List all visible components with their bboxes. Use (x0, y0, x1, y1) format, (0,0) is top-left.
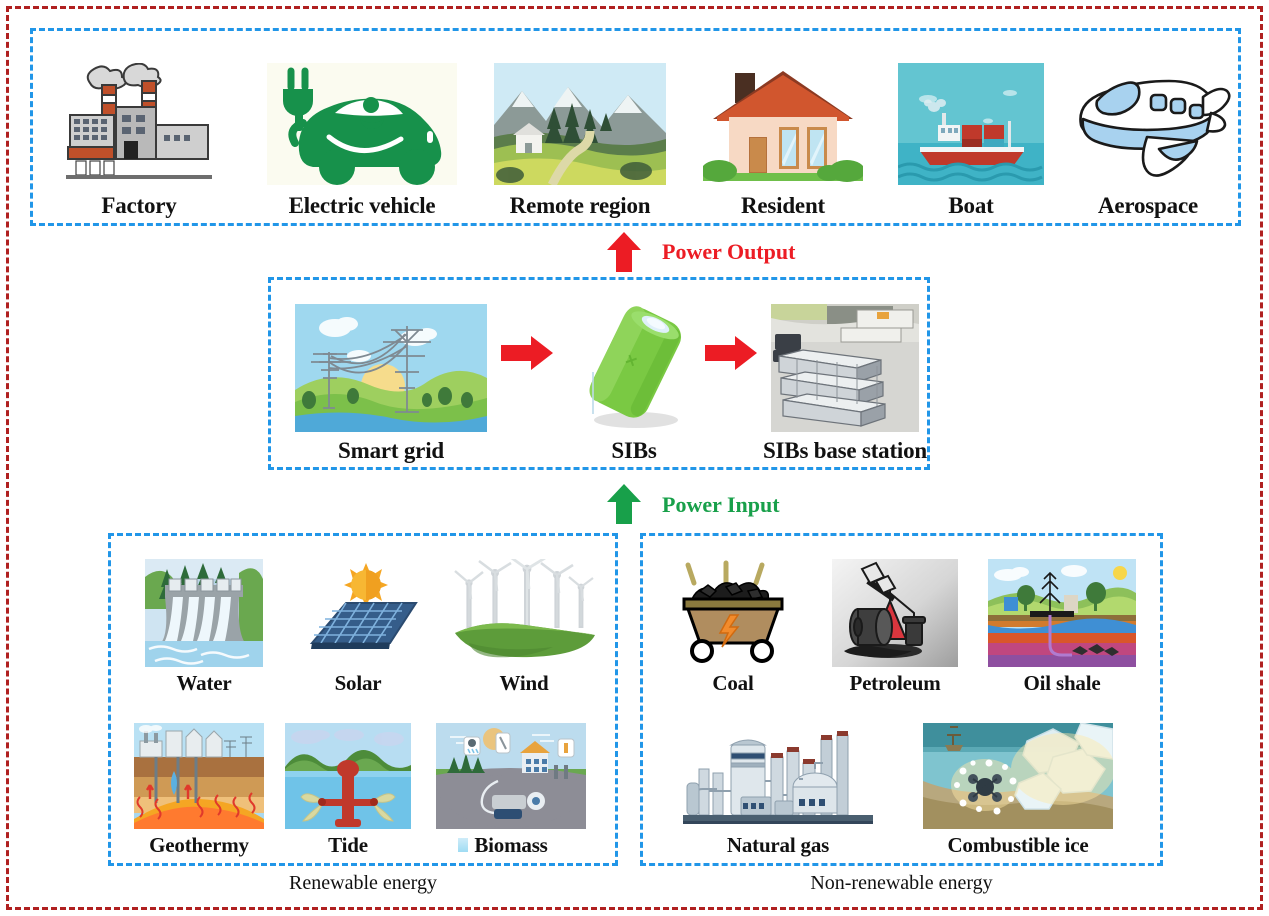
app-item-resident[interactable]: Resident (688, 37, 878, 219)
storage-panel: Smart grid (268, 277, 930, 470)
renewable-item-water[interactable]: Water (129, 546, 279, 696)
storage-arrow-2-icon (705, 336, 757, 370)
nonrenewable-label-petroleum: Petroleum (849, 671, 940, 696)
storage-item-base-station[interactable]: SIBs base station (757, 288, 933, 464)
app-label-electric-vehicle: Electric vehicle (289, 193, 436, 219)
renewable-panel: Water (108, 533, 618, 866)
biomass-artifact (458, 838, 468, 852)
power-input-label: Power Input (662, 492, 780, 518)
tidal-turbine-icon (285, 723, 411, 829)
nonrenewable-item-combustible-ice[interactable]: Combustible ice (893, 708, 1143, 858)
nonrenewable-label-oil-shale: Oil shale (1024, 671, 1101, 696)
oil-pumpjack-icon (832, 559, 958, 667)
methane-hydrate-icon (923, 723, 1113, 829)
app-label-remote-region: Remote region (510, 193, 651, 219)
airplane-icon (1063, 67, 1233, 185)
solar-panel-icon (294, 559, 422, 667)
nonrenewable-item-petroleum[interactable]: Petroleum (815, 546, 975, 696)
nonrenewable-item-oil-shale[interactable]: Oil shale (977, 546, 1147, 696)
power-input-arrow-icon (607, 484, 641, 524)
cargo-boat-icon (898, 63, 1044, 185)
power-output-label: Power Output (662, 239, 795, 265)
nonrenewable-item-coal[interactable]: Coal (657, 546, 809, 696)
nonrenewable-label-natural-gas: Natural gas (727, 833, 829, 858)
app-label-boat: Boat (948, 193, 993, 219)
renewable-label-geothermy: Geothermy (149, 833, 249, 858)
renewable-label-tide: Tide (328, 833, 368, 858)
factory-icon (64, 63, 214, 185)
base-station-icon (771, 304, 919, 432)
renewable-item-geothermy[interactable]: Geothermy (119, 708, 279, 858)
applications-panel: Factory (30, 28, 1241, 226)
diagram-root: Factory (0, 0, 1269, 916)
renewable-label-wind: Wind (499, 671, 548, 696)
renewable-label-water: Water (177, 671, 232, 696)
renewable-item-tide[interactable]: Tide (273, 708, 423, 858)
app-item-aerospace[interactable]: Aerospace (1058, 37, 1238, 219)
renewable-label-biomass: Biomass (474, 833, 547, 858)
storage-item-sibs[interactable]: SIBs (559, 288, 709, 464)
nonrenewable-panel: Coal (640, 533, 1163, 866)
oil-shale-icon (988, 559, 1136, 667)
renewable-section-label: Renewable energy (108, 872, 618, 895)
storage-item-smart-grid[interactable]: Smart grid (283, 288, 499, 464)
renewable-label-solar: Solar (335, 671, 382, 696)
coal-cart-icon (670, 559, 796, 667)
storage-label-sibs: SIBs (611, 438, 656, 464)
power-pylon-icon (295, 304, 487, 432)
hydro-dam-icon (145, 559, 263, 667)
nonrenewable-label-combustible-ice: Combustible ice (947, 833, 1088, 858)
app-item-boat[interactable]: Boat (883, 37, 1059, 219)
biomass-plant-icon (436, 723, 586, 829)
app-label-resident: Resident (741, 193, 825, 219)
app-label-factory: Factory (101, 193, 176, 219)
nonrenewable-item-natural-gas[interactable]: Natural gas (673, 708, 883, 858)
app-item-factory[interactable]: Factory (43, 37, 235, 219)
renewable-item-wind[interactable]: Wind (441, 546, 607, 696)
remote-region-icon (494, 63, 666, 185)
storage-label-smart-grid: Smart grid (338, 438, 444, 464)
biomass-text: Biomass (474, 833, 547, 857)
renewable-item-solar[interactable]: Solar (283, 546, 433, 696)
nonrenewable-section-label: Non-renewable energy (640, 872, 1163, 895)
resident-house-icon (703, 63, 863, 185)
gas-plant-icon (683, 723, 873, 829)
app-item-electric-vehicle[interactable]: Electric vehicle (248, 37, 476, 219)
renewable-item-biomass[interactable]: Biomass (421, 708, 601, 858)
storage-arrow-1-icon (501, 336, 553, 370)
app-item-remote-region[interactable]: Remote region (475, 37, 685, 219)
geothermal-plant-icon (134, 723, 264, 829)
power-output-arrow-icon (607, 232, 641, 272)
battery-cell-icon (566, 304, 702, 432)
app-label-aerospace: Aerospace (1098, 193, 1198, 219)
electric-vehicle-icon (267, 63, 457, 185)
nonrenewable-label-coal: Coal (712, 671, 753, 696)
storage-label-base-station: SIBs base station (763, 438, 927, 464)
wind-turbine-icon (449, 559, 599, 667)
